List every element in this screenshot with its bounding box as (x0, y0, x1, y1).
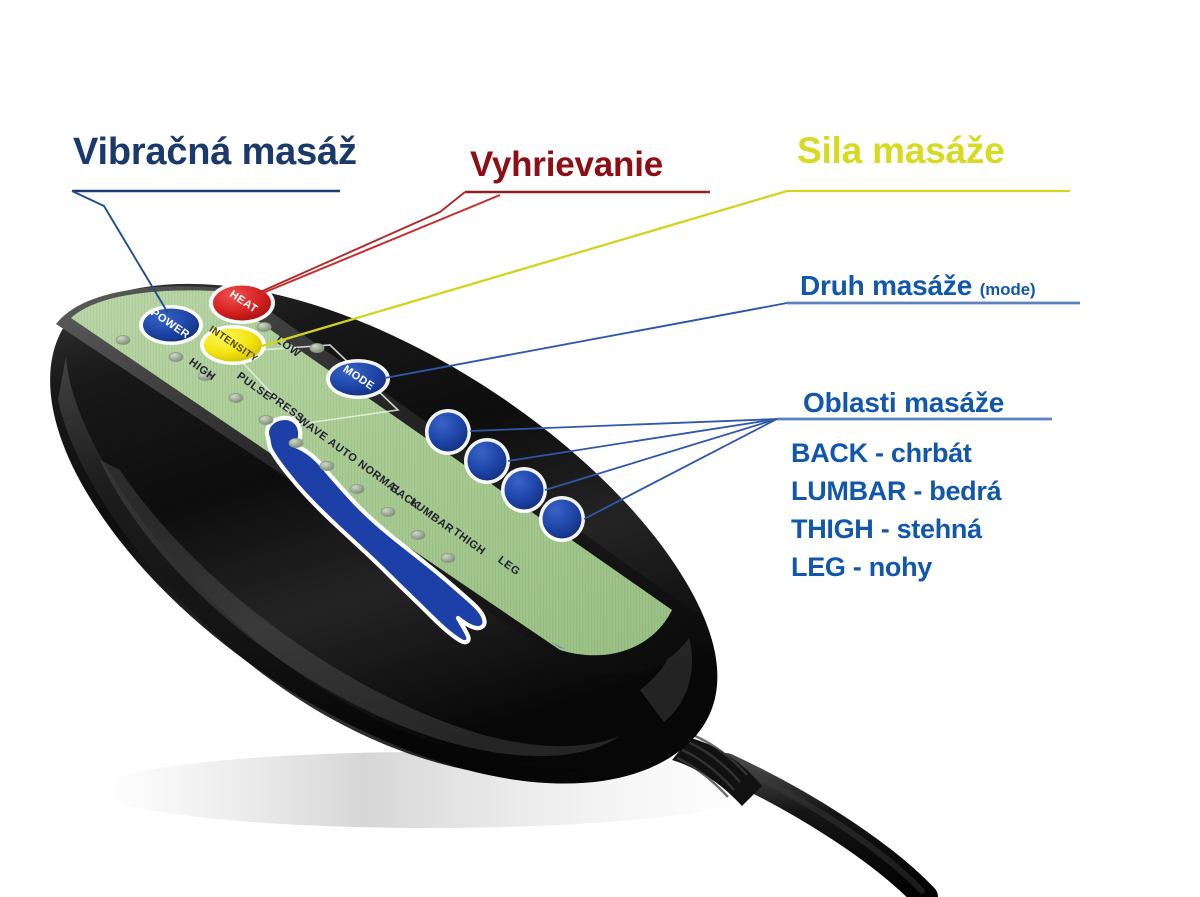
legend-item-leg: LEG - nohy (791, 552, 932, 583)
legend-item-lumbar: LUMBAR - bedrá (791, 476, 1001, 507)
annotation-mode-suffix: (mode) (980, 280, 1036, 299)
led-dot (350, 484, 364, 493)
leg-zone-button[interactable] (539, 496, 585, 542)
intensity-button[interactable] (200, 325, 266, 365)
annotation-strength: Sila masáže (797, 130, 1005, 172)
diagram-canvas: HIGH LOW PULSE PRESS WAVE AUTO NORMAL BA… (0, 0, 1200, 897)
led-dot (411, 530, 425, 539)
led-dot (310, 343, 324, 352)
led-dot (289, 438, 303, 447)
device-shadow (100, 752, 760, 828)
annotation-zones: Oblasti masáže (803, 387, 1004, 419)
thigh-zone-button[interactable] (501, 467, 547, 513)
annotation-heating: Vyhrievanie (470, 145, 663, 185)
led-dot (381, 507, 395, 516)
led-dot (116, 335, 130, 344)
back-zone-button[interactable] (425, 409, 471, 455)
legend-item-thigh: THIGH - stehná (791, 514, 982, 545)
legend-item-back: BACK - chrbát (791, 438, 972, 469)
annotation-vibration: Vibračná masáž (73, 131, 357, 174)
led-dot (320, 461, 334, 470)
led-dot (441, 553, 455, 562)
heat-button[interactable] (209, 282, 275, 324)
annotation-mode: Druh masáže (mode) (800, 270, 1036, 302)
annotation-mode-label: Druh masáže (800, 270, 972, 301)
led-dot (259, 415, 273, 424)
lumbar-zone-button[interactable] (464, 438, 510, 484)
led-dot (257, 322, 271, 331)
led-dot (169, 352, 183, 361)
led-dot (229, 393, 243, 402)
power-button[interactable] (139, 305, 203, 345)
mode-button[interactable] (326, 359, 390, 399)
